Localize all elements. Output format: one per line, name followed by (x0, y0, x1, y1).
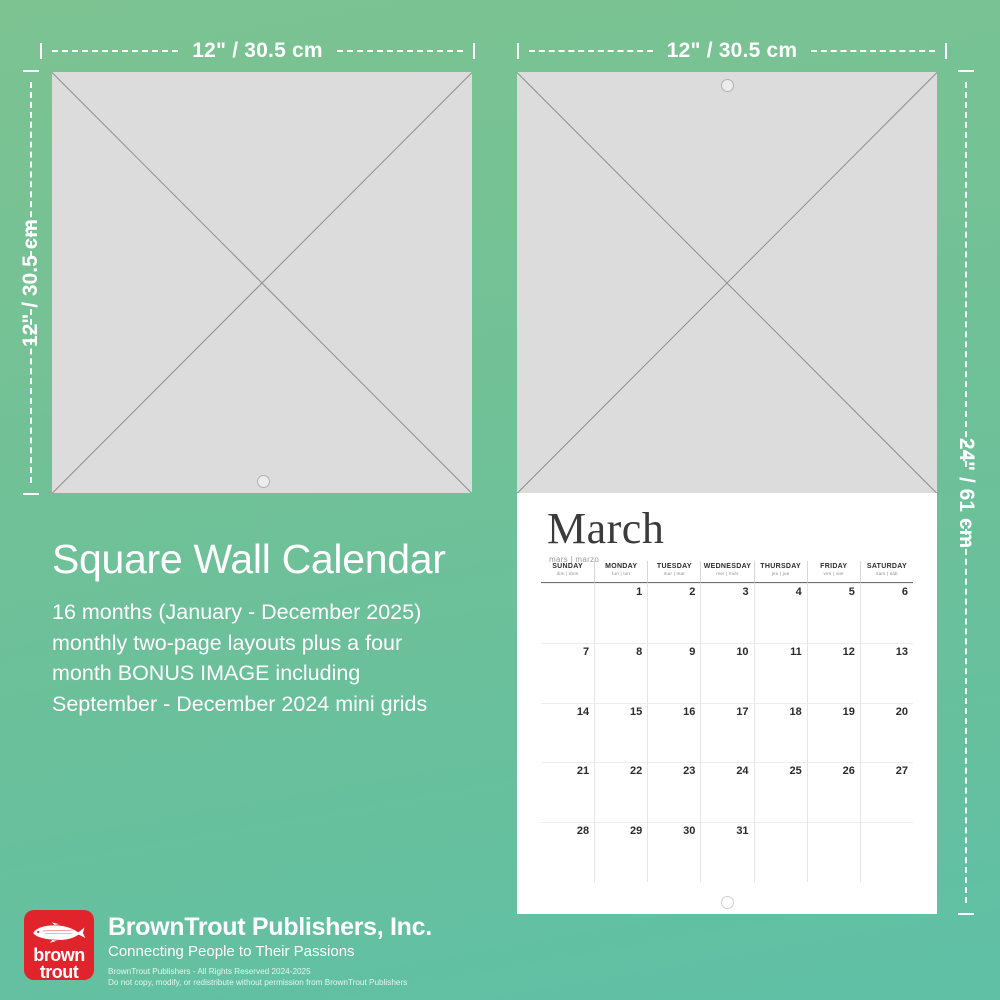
calendar-day-header: SATURDAYsam | sáb (860, 561, 913, 583)
calendar-date-number: 15 (630, 706, 642, 718)
promo-line-2: monthly two-page layouts plus a four (52, 628, 512, 659)
calendar-day-cell[interactable]: 5 (807, 583, 860, 643)
dimension-dash-left (529, 50, 653, 52)
dimension-dash-right (337, 50, 463, 52)
calendar-day-cell[interactable]: 4 (754, 583, 807, 643)
calendar-date-number: 26 (843, 765, 855, 777)
dimension-dash-left (52, 50, 178, 52)
dimension-cap-top (958, 70, 974, 72)
calendar-day-name: SUNDAY (541, 563, 594, 570)
calendar-day-header: MONDAYlun | lun (594, 561, 647, 583)
calendar-day-cell[interactable]: 17 (700, 703, 753, 763)
calendar-day-cell[interactable]: 15 (594, 703, 647, 763)
calendar-date-number: 27 (896, 765, 908, 777)
calendar-day-header: TUESDAYmar | mar (647, 561, 700, 583)
calendar-day-cell[interactable]: 7 (541, 643, 594, 703)
calendar-day-name: TUESDAY (648, 563, 700, 570)
trout-fish-svg (30, 919, 88, 945)
calendar-date-number: 6 (902, 586, 908, 598)
calendar-day-name: THURSDAY (755, 563, 807, 570)
calendar-day-cell[interactable]: 2 (647, 583, 700, 643)
dimension-cap-top (23, 70, 39, 72)
dimension-cap-left (517, 43, 519, 59)
dimension-right-label: 24" / 61 cm (950, 437, 982, 547)
calendar-date-number: 2 (689, 586, 695, 598)
dimension-top-left: 12" / 30.5 cm (40, 40, 475, 62)
calendar-day-header: FRIDAYven | vier (807, 561, 860, 583)
calendar-date-number: 24 (736, 765, 748, 777)
calendar-day-cell[interactable]: 21 (541, 762, 594, 822)
calendar-day-cell[interactable]: 30 (647, 822, 700, 882)
browntrout-logo: brown trout (24, 910, 94, 980)
calendar-empty-cell (541, 583, 594, 643)
calendar-day-cell[interactable]: 31 (700, 822, 753, 882)
dimension-cap-right (473, 43, 475, 59)
calendar-date-number: 5 (849, 586, 855, 598)
calendar-date-number: 21 (577, 765, 589, 777)
calendar-day-sub: sam | sáb (861, 571, 913, 576)
calendar-day-name: FRIDAY (808, 563, 860, 570)
calendar-month-title: March (517, 493, 937, 551)
logo-text-trout: trout (24, 963, 94, 980)
dimension-dash-right (811, 50, 935, 52)
calendar-date-number: 12 (843, 646, 855, 658)
calendar-date-number: 16 (683, 706, 695, 718)
calendar-empty-cell (860, 822, 913, 882)
calendar-day-cell[interactable]: 18 (754, 703, 807, 763)
calendar-date-number: 29 (630, 825, 642, 837)
calendar-day-cell[interactable]: 11 (754, 643, 807, 703)
page-title: Square Wall Calendar (52, 538, 512, 581)
calendar-date-number: 28 (577, 825, 589, 837)
calendar-day-sub: mar | mar (648, 571, 700, 576)
footer-text: BrownTrout Publishers, Inc. Connecting P… (108, 910, 432, 988)
calendar-day-cell[interactable]: 10 (700, 643, 753, 703)
calendar-date-number: 7 (583, 646, 589, 658)
calendar-date-number: 1 (636, 586, 642, 598)
calendar-day-cell[interactable]: 23 (647, 762, 700, 822)
promo-line-3: month BONUS IMAGE including (52, 658, 512, 689)
calendar-day-cell[interactable]: 25 (754, 762, 807, 822)
legal-line-2: Do not copy, modify, or redistribute wit… (108, 977, 432, 988)
calendar-date-number: 9 (689, 646, 695, 658)
calendar-day-cell[interactable]: 26 (807, 762, 860, 822)
calendar-day-cell[interactable]: 29 (594, 822, 647, 882)
calendar-date-number: 30 (683, 825, 695, 837)
calendar-day-cell[interactable]: 8 (594, 643, 647, 703)
calendar-date-number: 22 (630, 765, 642, 777)
calendar-day-name: SATURDAY (861, 563, 913, 570)
dimension-dash-top (965, 82, 967, 467)
dimension-top-right: 12" / 30.5 cm (517, 40, 947, 62)
hole-punch-cover (257, 475, 270, 488)
company-tagline: Connecting People to Their Passions (108, 943, 432, 960)
dimension-cap-left (40, 43, 42, 59)
calendar-date-number: 3 (742, 586, 748, 598)
calendar-empty-cell (754, 822, 807, 882)
calendar-day-cell[interactable]: 28 (541, 822, 594, 882)
calendar-date-number: 25 (789, 765, 801, 777)
month-image-placeholder (517, 72, 937, 493)
calendar-day-name: MONDAY (595, 563, 647, 570)
promo-description: 16 months (January - December 2025) mont… (52, 597, 512, 719)
calendar-day-header: WEDNESDAYmer | miér (700, 561, 753, 583)
calendar-day-header: SUNDAYdim | dom (541, 561, 594, 583)
calendar-date-number: 11 (790, 646, 802, 658)
calendar-day-cell[interactable]: 14 (541, 703, 594, 763)
calendar-date-number: 14 (577, 706, 589, 718)
hole-punch-month-image (721, 79, 734, 92)
promo-line-4: September - December 2024 mini grids (52, 689, 512, 720)
calendar-date-number: 4 (796, 586, 802, 598)
calendar-day-name: WEDNESDAY (701, 563, 753, 570)
legal-notice: BrownTrout Publishers - All Rights Reser… (108, 966, 432, 988)
calendar-date-number: 8 (636, 646, 642, 658)
calendar-day-cell[interactable]: 16 (647, 703, 700, 763)
trout-fish-icon (30, 919, 88, 945)
dimension-top-left-label: 12" / 30.5 cm (188, 39, 326, 63)
dimension-left: 12" / 30.5 cm (20, 70, 42, 495)
legal-line-1: BrownTrout Publishers - All Rights Reser… (108, 966, 432, 977)
cover-image-placeholder (52, 72, 472, 493)
calendar-day-cell[interactable]: 3 (700, 583, 753, 643)
calendar-day-cell[interactable]: 20 (860, 703, 913, 763)
dimension-left-label: 12" / 30.5 cm (15, 219, 47, 347)
calendar-day-cell[interactable]: 1 (594, 583, 647, 643)
calendar-day-cell[interactable]: 13 (860, 643, 913, 703)
calendar-date-number: 20 (896, 706, 908, 718)
calendar-date-number: 18 (789, 706, 801, 718)
calendar-date-number: 31 (736, 825, 748, 837)
calendar-day-sub: dim | dom (541, 571, 594, 576)
calendar-date-number: 23 (683, 765, 695, 777)
calendar-day-sub: jeu | jue (755, 571, 807, 576)
calendar-date-number: 19 (843, 706, 855, 718)
calendar-day-cell[interactable]: 9 (647, 643, 700, 703)
calendar-day-cell[interactable]: 24 (700, 762, 753, 822)
calendar-day-sub: mer | miér (701, 571, 753, 576)
calendar-date-number: 13 (896, 646, 908, 658)
hole-punch-calendar (721, 896, 734, 909)
calendar-day-cell[interactable]: 27 (860, 762, 913, 822)
calendar-date-number: 10 (736, 646, 748, 658)
dimension-top-right-label: 12" / 30.5 cm (663, 39, 801, 63)
calendar-grid: SUNDAYdim | domMONDAYlun | lunTUESDAYmar… (541, 561, 913, 882)
promo-line-1: 16 months (January - December 2025) (52, 597, 512, 628)
calendar-day-sub: lun | lun (595, 571, 647, 576)
calendar-day-cell[interactable]: 22 (594, 762, 647, 822)
dimension-dash-bottom (965, 519, 967, 904)
dimension-cap-bottom (23, 493, 39, 495)
calendar-date-number: 17 (736, 706, 748, 718)
calendar-sheet: March mars | marzo SUNDAYdim | domMONDAY… (517, 493, 937, 914)
calendar-day-header: THURSDAYjeu | jue (754, 561, 807, 583)
company-name: BrownTrout Publishers, Inc. (108, 914, 432, 942)
promo-block: Square Wall Calendar 16 months (January … (52, 538, 512, 719)
dimension-cap-right (945, 43, 947, 59)
calendar-day-sub: ven | vier (808, 571, 860, 576)
calendar-day-cell[interactable]: 6 (860, 583, 913, 643)
calendar-day-cell[interactable]: 12 (807, 643, 860, 703)
dimension-right: 24" / 61 cm (955, 70, 977, 915)
footer: brown trout BrownTrout Publishers, Inc. … (24, 910, 432, 988)
calendar-empty-cell (807, 822, 860, 882)
dimension-cap-bottom (958, 913, 974, 915)
calendar-day-cell[interactable]: 19 (807, 703, 860, 763)
